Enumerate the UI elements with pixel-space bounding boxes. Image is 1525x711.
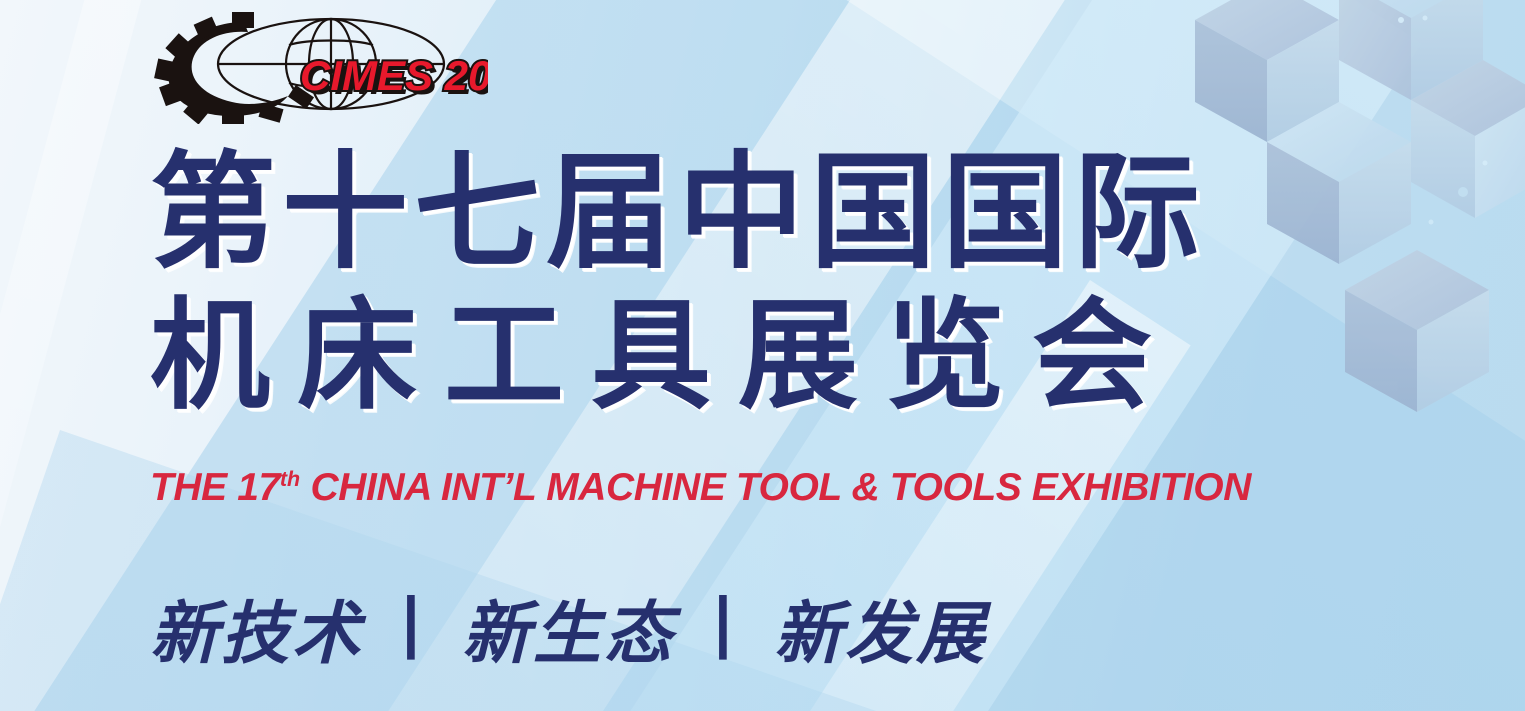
tagline-part-2: 新生态: [462, 596, 675, 672]
tagline-separator-1: 丨: [363, 574, 462, 673]
title-english-prefix: THE 17: [150, 466, 280, 509]
title-chinese-line-2: 机床工具展览会: [150, 296, 1270, 416]
cimes-2026-banner: CIMES 2026 CIMES 2026 第十七届中国国际 机床工具展览会 T…: [0, 0, 1525, 711]
cimes-logo: CIMES 2026 CIMES 2026: [148, 12, 488, 124]
tagline-part-3: 新发展: [774, 596, 987, 672]
title-english: THE 17th CHINA INT’L MACHINE TOOL & TOOL…: [150, 466, 1251, 510]
logo-wordmark: CIMES 2026: [300, 52, 488, 99]
title-english-ordinal-suffix: th: [280, 467, 300, 491]
title-chinese-line-1: 第十七届中国国际: [150, 150, 1270, 276]
title-block: 第十七届中国国际 机床工具展览会: [150, 150, 1270, 416]
tagline-part-1: 新技术: [150, 596, 363, 672]
tagline: 新技术丨新生态丨新发展: [150, 578, 987, 677]
title-english-suffix: CHINA INT’L MACHINE TOOL & TOOLS EXHIBIT…: [311, 466, 1252, 509]
tagline-separator-2: 丨: [675, 574, 774, 673]
diagonal-band-left: [0, 0, 148, 711]
